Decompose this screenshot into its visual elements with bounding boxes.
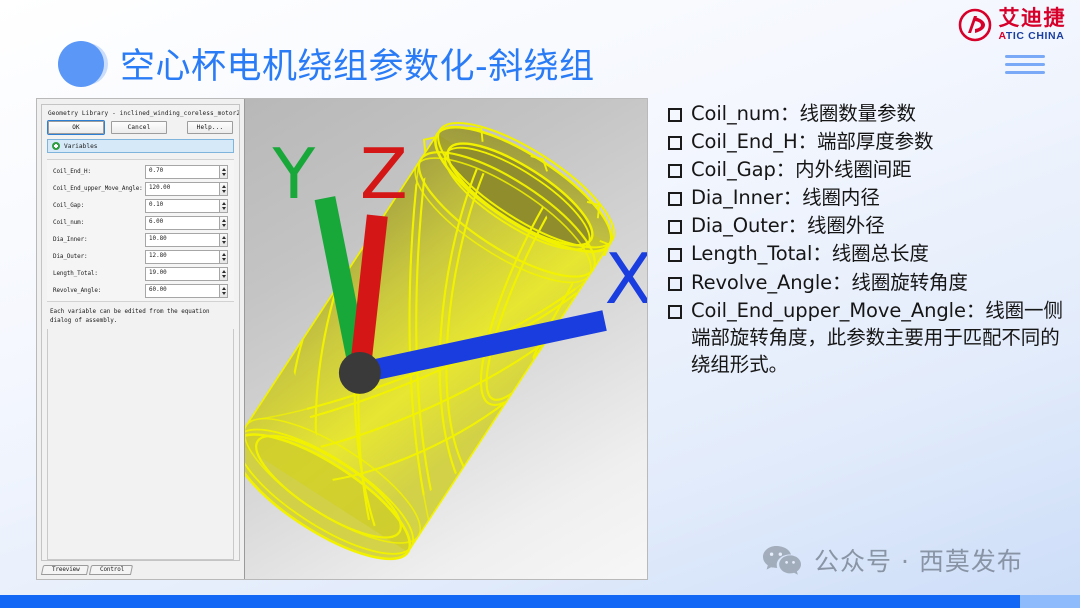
list-item: Dia_Inner：线圈内径 (668, 184, 1068, 211)
dialog-tab-strip: Treeview Control (37, 561, 244, 579)
field-spinner[interactable] (219, 216, 228, 230)
field-label: Dia_Outer: (53, 254, 145, 260)
axis-triad-icon: X Y Z (255, 99, 647, 543)
hamburger-bar-2 (1005, 63, 1045, 66)
field-input-wrap: 0.70 (145, 165, 228, 179)
field-input-wrap: 10.80 (145, 233, 228, 247)
svg-text:Z: Z (360, 134, 408, 215)
svg-text:Y: Y (271, 134, 315, 215)
list-item: Dia_Outer：线圈外径 (668, 212, 1068, 239)
variables-section-header[interactable]: Variables (47, 139, 234, 153)
field-row: Dia_Outer: 12.80 (47, 248, 234, 265)
field-spinner[interactable] (219, 284, 228, 298)
field-input-wrap: 60.00 (145, 284, 228, 298)
tab-treeview-label: Treeview (52, 567, 80, 573)
list-item-label: Coil_num：线圈数量参数 (691, 100, 916, 127)
hamburger-bar-3 (1005, 71, 1045, 74)
tab-control[interactable]: Control (89, 565, 133, 575)
list-item-label: Coil_Gap：内外线圈间距 (691, 156, 912, 183)
tab-treeview[interactable]: Treeview (41, 565, 89, 575)
tab-control-label: Control (100, 567, 124, 573)
logo-en-accent: A (999, 30, 1006, 42)
cad-3d-viewport[interactable]: X Y Z (245, 99, 647, 579)
field-label: Coil_End_upper_Move_Angle: (53, 186, 145, 192)
field-input-wrap: 120.00 (145, 182, 228, 196)
field-value-input[interactable]: 19.00 (145, 267, 219, 281)
variables-label: Variables (64, 143, 98, 150)
field-label: Coil_Gap: (53, 203, 145, 209)
field-spinner[interactable] (219, 250, 228, 264)
field-label: Dia_Inner: (53, 237, 145, 243)
list-item: Length_Total：线圈总长度 (668, 240, 1068, 267)
ok-button[interactable]: OK (48, 121, 104, 134)
list-item-label: Coil_End_upper_Move_Angle：线圈一侧端部旋转角度，此参数… (691, 297, 1068, 378)
dialog-title: Geometry Library - inclined_winding_core… (42, 105, 239, 121)
dialog-body: Geometry Library - inclined_winding_core… (41, 104, 240, 561)
wechat-icon (762, 544, 802, 576)
field-value-input[interactable]: 60.00 (145, 284, 219, 298)
parameter-description-list: Coil_num：线圈数量参数 Coil_End_H：端部厚度参数 Coil_G… (668, 100, 1068, 379)
list-item-label: Revolve_Angle：线圈旋转角度 (691, 269, 968, 296)
expand-plus-icon[interactable] (52, 142, 60, 150)
list-item-label: Dia_Outer：线圈外径 (691, 212, 885, 239)
square-bullet-icon (668, 277, 682, 291)
field-label: Revolve_Angle: (53, 288, 145, 294)
field-input-wrap: 19.00 (145, 267, 228, 281)
watermark-label: 公众号 · 西莫发布 (814, 542, 1023, 578)
list-item: Coil_End_H：端部厚度参数 (668, 128, 1068, 155)
list-item: Revolve_Angle：线圈旋转角度 (668, 269, 1068, 296)
square-bullet-icon (668, 136, 682, 150)
square-bullet-icon (668, 248, 682, 262)
slide-canvas: 艾迪捷 ATIC CHINA 空心杯电机绕组参数化-斜绕组 Geometry L… (0, 0, 1080, 608)
bottom-accent-bar-secondary (1020, 595, 1080, 608)
field-row: Revolve_Angle: 60.00 (47, 282, 234, 299)
wechat-watermark: 公众号 · 西莫发布 (762, 542, 1023, 578)
square-bullet-icon (668, 192, 682, 206)
field-row: Coil_End_upper_Move_Angle: 120.00 (47, 180, 234, 197)
field-label: Coil_End_H: (53, 169, 145, 175)
field-input-wrap: 12.80 (145, 250, 228, 264)
field-value-input[interactable]: 6.00 (145, 216, 219, 230)
brand-logo: 艾迪捷 ATIC CHINA (958, 8, 1067, 42)
hamburger-menu-icon[interactable] (1005, 55, 1045, 74)
field-value-input[interactable]: 12.80 (145, 250, 219, 264)
field-spinner[interactable] (219, 267, 228, 281)
bottom-accent-bar (0, 595, 1020, 608)
atic-logo-mark-icon (958, 8, 992, 42)
field-value-input[interactable]: 0.70 (145, 165, 219, 179)
field-row: Dia_Inner: 10.80 (47, 231, 234, 248)
dialog-button-row: OK Cancel Help... (42, 121, 239, 139)
list-item-label: Dia_Inner：线圈内径 (691, 184, 880, 211)
logo-chinese-name: 艾迪捷 (999, 8, 1067, 29)
field-input-wrap: 6.00 (145, 216, 228, 230)
page-title-text: 空心杯电机绕组参数化-斜绕组 (120, 38, 595, 89)
list-item: Coil_End_upper_Move_Angle：线圈一侧端部旋转角度，此参数… (668, 297, 1068, 378)
field-spinner[interactable] (219, 199, 228, 213)
help-button[interactable]: Help... (187, 121, 233, 134)
list-item-label: Length_Total：线圈总长度 (691, 240, 929, 267)
field-label: Length_Total: (53, 271, 145, 277)
square-bullet-icon (668, 108, 682, 122)
field-row: Coil_End_H: 0.70 (47, 163, 234, 180)
logo-english-name: ATIC CHINA (999, 31, 1067, 42)
field-label: Coil_num: (53, 220, 145, 226)
variables-field-list: Coil_End_H: 0.70 Coil_End_upper_Move_Ang… (47, 159, 234, 302)
dialog-note-text: Each variable can be edited from the equ… (42, 302, 239, 329)
field-spinner[interactable] (219, 233, 228, 247)
logo-en-rest: TIC CHINA (1006, 30, 1064, 42)
hamburger-bar-1 (1005, 55, 1045, 58)
field-row: Coil_Gap: 0.10 (47, 197, 234, 214)
cad-application-screenshot: Geometry Library - inclined_winding_core… (36, 98, 648, 580)
field-row: Coil_num: 6.00 (47, 214, 234, 231)
field-input-wrap: 0.10 (145, 199, 228, 213)
page-title: 空心杯电机绕组参数化-斜绕组 (58, 38, 595, 89)
field-spinner[interactable] (219, 182, 228, 196)
square-bullet-icon (668, 164, 682, 178)
dialog-empty-area (47, 329, 234, 560)
geometry-library-dialog: Geometry Library - inclined_winding_core… (37, 99, 245, 579)
list-item: Coil_Gap：内外线圈间距 (668, 156, 1068, 183)
field-value-input[interactable]: 0.10 (145, 199, 219, 213)
list-item: Coil_num：线圈数量参数 (668, 100, 1068, 127)
square-bullet-icon (668, 220, 682, 234)
field-value-input[interactable]: 120.00 (145, 182, 219, 196)
field-row: Length_Total: 19.00 (47, 265, 234, 282)
square-bullet-icon (668, 305, 682, 319)
field-value-input[interactable]: 10.80 (145, 233, 219, 247)
field-spinner[interactable] (219, 165, 228, 179)
list-item-label: Coil_End_H：端部厚度参数 (691, 128, 933, 155)
title-bullet-icon (58, 41, 104, 87)
cancel-button[interactable]: Cancel (111, 121, 167, 134)
svg-text:X: X (605, 239, 647, 320)
